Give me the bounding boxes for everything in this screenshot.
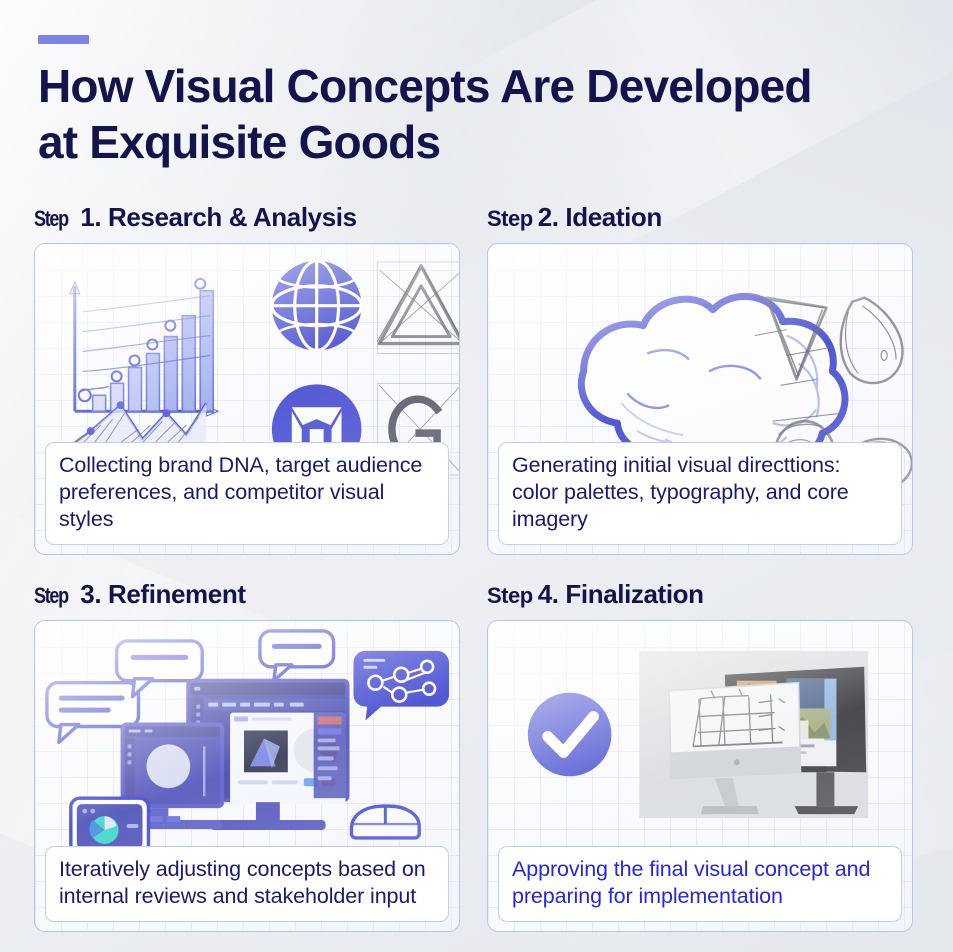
step-title: Finalization	[565, 579, 703, 609]
page-title-line-2: at Exquisite Goods	[38, 116, 440, 168]
step-caption-4: Approving the final visual concept and p…	[498, 846, 902, 922]
check-badge-icon	[528, 693, 612, 777]
step-card-1: Step1. Research & Analysis	[34, 200, 460, 555]
page-title-line-1: How Visual Concepts Are Developed	[38, 60, 812, 112]
mouse	[351, 806, 419, 838]
step-caption-1: Collecting brand DNA, target audience pr…	[45, 442, 449, 545]
step-number: 3.	[80, 579, 101, 609]
step-caption-2: Generating initial visual directtions: c…	[498, 442, 902, 545]
globe-icon	[272, 261, 362, 351]
caption-line: Iteratively adjusting concepts	[59, 857, 332, 881]
step-caption-3: Iteratively adjusting concepts based on …	[45, 846, 449, 922]
step-title: Research & Analysis	[108, 202, 357, 232]
step-word: Step	[34, 202, 68, 236]
caption-line: stakeholder input	[254, 884, 416, 908]
step-title: Ideation	[565, 202, 661, 232]
step-number: 2.	[538, 202, 559, 232]
infographic-page: How Visual Concepts Are Developed at Exq…	[0, 0, 953, 952]
page-title: How Visual Concepts Are Developed at Exq…	[38, 58, 918, 170]
caption-line: Approving the final visual concept	[512, 857, 829, 881]
teardrop-sketch	[841, 298, 903, 383]
step-number: 1.	[80, 202, 101, 232]
step-word: Step	[487, 206, 533, 231]
step-card-2: Step2. Ideation	[487, 200, 913, 555]
comment-bubble	[260, 631, 334, 681]
step-label-3: Step3. Refinement	[34, 577, 460, 613]
step-word: Step	[487, 583, 533, 608]
node-diagram-bubble	[353, 651, 449, 721]
illustration-panel-1: Collecting brand DNA, target audience pr…	[34, 243, 460, 555]
step-card-4: Step4. Finalization	[487, 577, 913, 932]
illustration-panel-3: Iteratively adjusting concepts based on …	[34, 620, 460, 932]
bar-chart-sketch	[70, 279, 218, 416]
step-title: Refinement	[108, 579, 246, 609]
caption-line: Collecting brand DNA, target	[59, 453, 330, 477]
illustration-panel-2: Generating initial visual directtions: c…	[487, 243, 913, 555]
step-label-1: Step1. Research & Analysis	[34, 200, 460, 236]
step-card-3: Step3. Refinement	[34, 577, 460, 932]
illustration-panel-4: Approving the final visual concept and p…	[487, 620, 913, 932]
step-label-4: Step4. Finalization	[487, 577, 913, 613]
accent-bar	[38, 35, 89, 44]
step-label-2: Step2. Ideation	[487, 200, 913, 236]
caption-line: Generating initial visual direct	[512, 453, 790, 477]
monitor-photo	[639, 651, 868, 818]
step-number: 4.	[538, 579, 559, 609]
steps-grid: Step1. Research & Analysis	[34, 200, 919, 932]
triangle-logo-sketch	[377, 262, 459, 354]
step-word: Step	[34, 579, 68, 613]
